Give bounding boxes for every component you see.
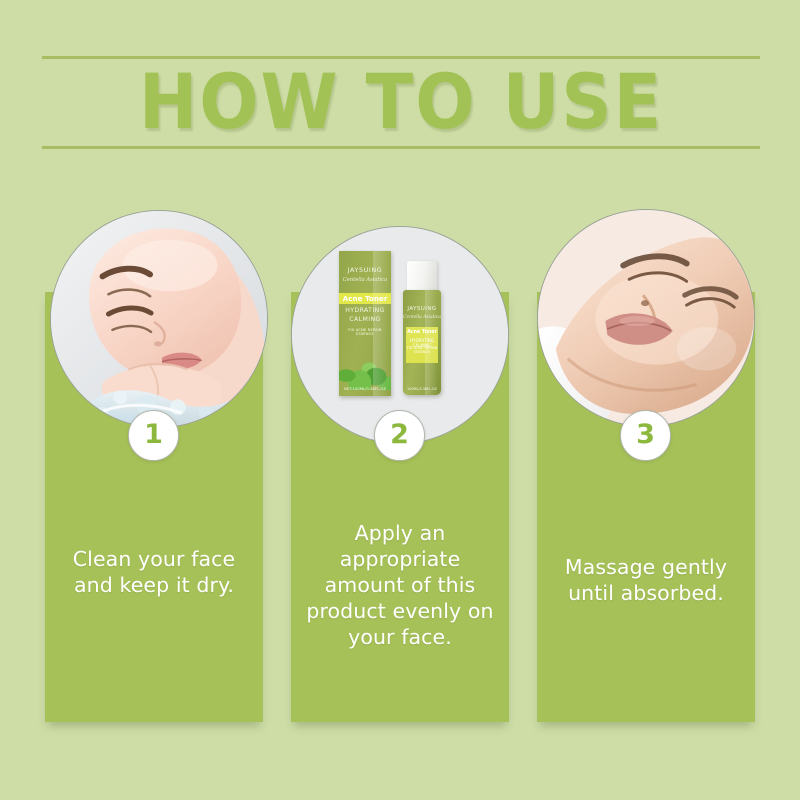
bottle-cap — [407, 261, 437, 291]
poster-root: HOW TO USE Clean your face and keep it d… — [0, 0, 800, 800]
step-1-number-badge: 1 — [128, 410, 179, 461]
box-sheen — [373, 251, 391, 396]
step-3-caption: Massage gently until absorbed. — [543, 554, 749, 606]
step-1-caption: Clean your face and keep it dry. — [51, 546, 257, 598]
step-3-number-badge: 3 — [620, 410, 671, 461]
face-closeup-illustration — [538, 210, 754, 426]
step-2-number-badge: 2 — [374, 410, 425, 461]
bottle-body: JAYSUING Centella Asiatica Acne Toner HY… — [403, 290, 441, 395]
step-3-photo — [537, 209, 755, 427]
product-box: JAYSUING Centella Asiatica Acne Toner HY… — [339, 251, 391, 396]
steps-container: Clean your face and keep it dry. Apply a… — [0, 0, 800, 800]
bottle-sheen — [425, 290, 437, 395]
step-1-photo — [50, 210, 268, 428]
step-2-caption: Apply an appropriate amount of this prod… — [297, 520, 503, 650]
washing-face-illustration — [51, 211, 267, 427]
product-bottle: JAYSUING Centella Asiatica Acne Toner HY… — [403, 261, 441, 395]
